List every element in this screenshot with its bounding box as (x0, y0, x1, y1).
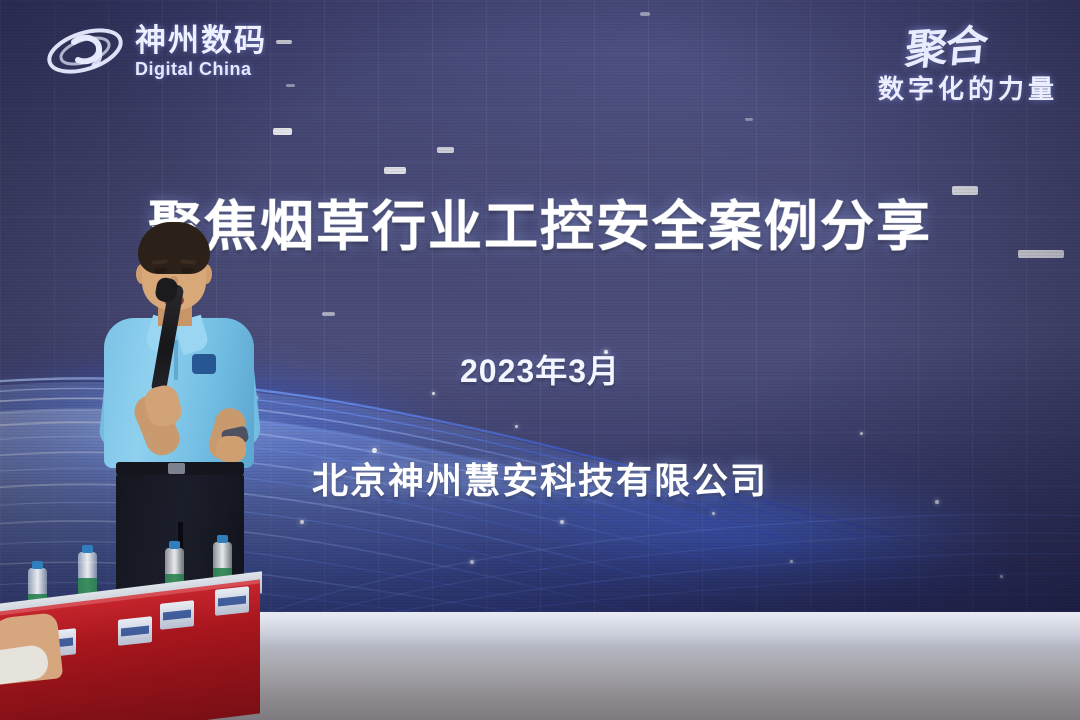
light-speck (745, 118, 753, 121)
eye-left (154, 268, 167, 273)
speaker-right-hand (216, 436, 246, 462)
belt-buckle (168, 463, 185, 474)
nameplate (215, 586, 249, 616)
eye-right (181, 268, 194, 273)
light-speck (640, 12, 650, 16)
bottle-cap (217, 535, 228, 543)
polo-chest-logo (192, 354, 216, 374)
digital-china-swirl-icon (44, 20, 126, 82)
digital-china-logo: 神州数码 Digital China (44, 20, 267, 82)
light-speck (322, 312, 335, 316)
polo-placket (174, 340, 178, 380)
nameplate-text-bar (163, 610, 191, 621)
light-speck (273, 128, 292, 135)
bottle-cap (169, 541, 180, 549)
nameplate (160, 600, 194, 630)
light-speck (437, 147, 454, 153)
light-speck (286, 84, 295, 87)
light-speck (384, 167, 406, 174)
event-calligraphy: 聚合 (903, 11, 989, 77)
nameplate-text-bar (121, 626, 149, 637)
bottle-cap (82, 545, 93, 553)
bottle-cap (32, 561, 43, 569)
nameplate-text-bar (218, 596, 246, 607)
conference-stage-photo: 神州数码 Digital China 聚合 数字化的力量 聚焦烟草行业工控安全案… (0, 0, 1080, 720)
brand-name-cn: 神州数码 (135, 25, 267, 56)
event-logo: 聚合 数字化的力量 (878, 14, 1058, 106)
light-speck (276, 40, 292, 44)
brand-name-en: Digital China (135, 60, 267, 78)
nameplate (118, 616, 152, 646)
speaker-hair (138, 222, 210, 274)
